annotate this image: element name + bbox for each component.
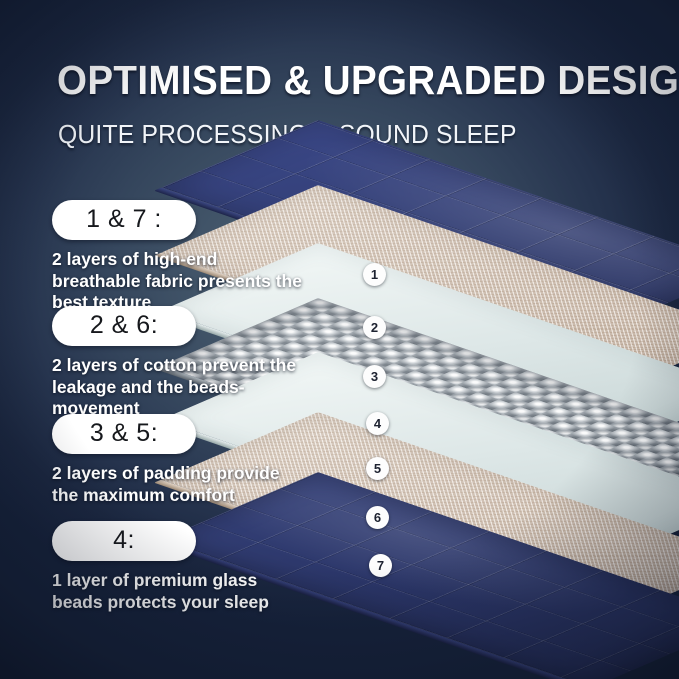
- layer-number-markers: 1 2 3 4 5 6 7: [0, 0, 679, 679]
- layer-marker-1: 1: [363, 263, 386, 286]
- layer-marker-7: 7: [369, 554, 392, 577]
- infographic-canvas: 1 2 3 4 5 6 7 OPTIMISED & UPGRADED DESIG…: [0, 0, 679, 679]
- layer-marker-2: 2: [363, 316, 386, 339]
- layer-marker-6: 6: [366, 506, 389, 529]
- layer-marker-3: 3: [363, 365, 386, 388]
- layer-marker-4: 4: [366, 412, 389, 435]
- layer-marker-5: 5: [366, 457, 389, 480]
